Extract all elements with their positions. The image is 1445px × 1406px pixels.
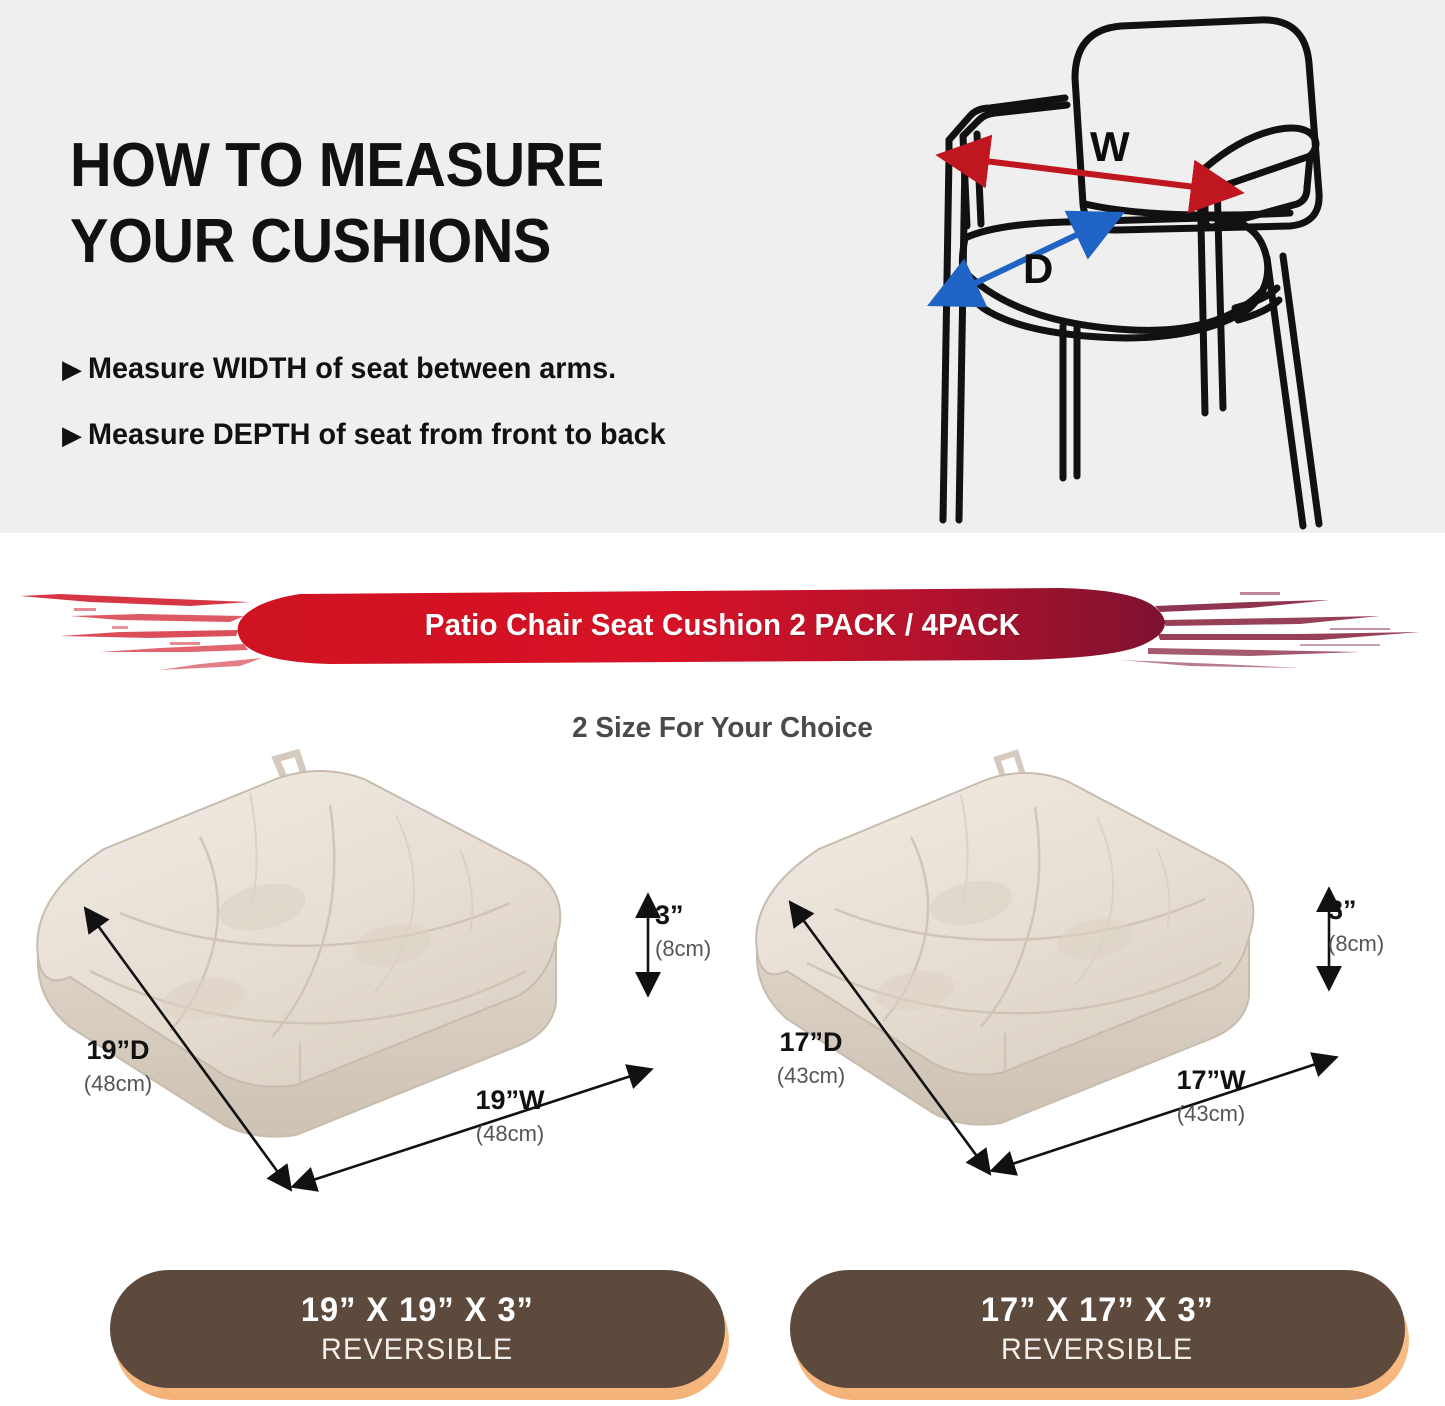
depth-cm: (48cm): [58, 1069, 178, 1099]
cushion-19-image: [0, 745, 722, 1215]
triangle-bullet-icon: ▶: [62, 351, 88, 387]
width-inches: 19”W: [430, 1085, 590, 1115]
triangle-bullet-icon: ▶: [62, 417, 88, 453]
size-label-19: 19” X 19” X 3”: [301, 1290, 534, 1330]
product-banner: [0, 572, 1445, 677]
size-option-17[interactable]: 17” X 17” X 3” REVERSIBLE: [790, 1270, 1405, 1392]
width-cm: (48cm): [430, 1119, 590, 1149]
depth-cm: (43cm): [751, 1061, 871, 1091]
infographic-page: HOW TO MEASURE YOUR CUSHIONS ▶ Measure W…: [0, 0, 1445, 1406]
pill-face[interactable]: 19” X 19” X 3” REVERSIBLE: [110, 1270, 725, 1388]
height-cm: (8cm): [1328, 929, 1438, 959]
reversible-label-19: REVERSIBLE: [321, 1332, 513, 1368]
pill-face[interactable]: 17” X 17” X 3” REVERSIBLE: [790, 1270, 1405, 1388]
cushion-19-width-label: 19”W (48cm): [430, 1085, 590, 1149]
instruction-width-text: Measure WIDTH of seat between arms.: [88, 350, 616, 388]
measure-instructions-list: ▶ Measure WIDTH of seat between arms. ▶ …: [62, 350, 882, 482]
width-inches: 17”W: [1131, 1065, 1291, 1095]
page-title-line-2: YOUR CUSHIONS: [70, 204, 777, 280]
cushion-17-image: [723, 745, 1445, 1215]
chair-width-label: W: [1090, 126, 1130, 168]
reversible-label-17: REVERSIBLE: [1001, 1332, 1193, 1368]
how-to-measure-panel: HOW TO MEASURE YOUR CUSHIONS ▶ Measure W…: [0, 0, 1445, 533]
cushion-19-block: 19”D (48cm) 19”W (48cm) 3” (8cm): [0, 745, 722, 1215]
chair-measurement-diagram: W D: [905, 8, 1435, 533]
cushion-17-height-label: 3” (8cm): [1328, 895, 1438, 959]
page-title: HOW TO MEASURE YOUR CUSHIONS: [70, 128, 777, 280]
chair-depth-label: D: [1023, 248, 1053, 290]
cushion-17-block: 17”D (43cm) 17”W (43cm) 3” (8cm): [723, 745, 1445, 1215]
width-cm: (43cm): [1131, 1099, 1291, 1129]
page-title-line-1: HOW TO MEASURE: [70, 128, 777, 204]
cushion-17-width-label: 17”W (43cm): [1131, 1065, 1291, 1129]
cushion-19-depth-label: 19”D (48cm): [58, 1035, 178, 1099]
chair-illustration-svg: [905, 8, 1435, 533]
subheading: 2 Size For Your Choice: [29, 712, 1416, 745]
cushion-17-depth-label: 17”D (43cm): [751, 1027, 871, 1091]
brush-stroke-graphic: [0, 572, 1445, 677]
depth-inches: 19”D: [58, 1035, 178, 1065]
height-inches: 3”: [1328, 895, 1438, 925]
list-item: ▶ Measure WIDTH of seat between arms.: [62, 350, 882, 388]
size-label-17: 17” X 17” X 3”: [981, 1290, 1214, 1330]
list-item: ▶ Measure DEPTH of seat from front to ba…: [62, 416, 882, 454]
size-option-19[interactable]: 19” X 19” X 3” REVERSIBLE: [110, 1270, 725, 1392]
instruction-depth-text: Measure DEPTH of seat from front to back: [88, 416, 666, 454]
depth-inches: 17”D: [751, 1027, 871, 1057]
